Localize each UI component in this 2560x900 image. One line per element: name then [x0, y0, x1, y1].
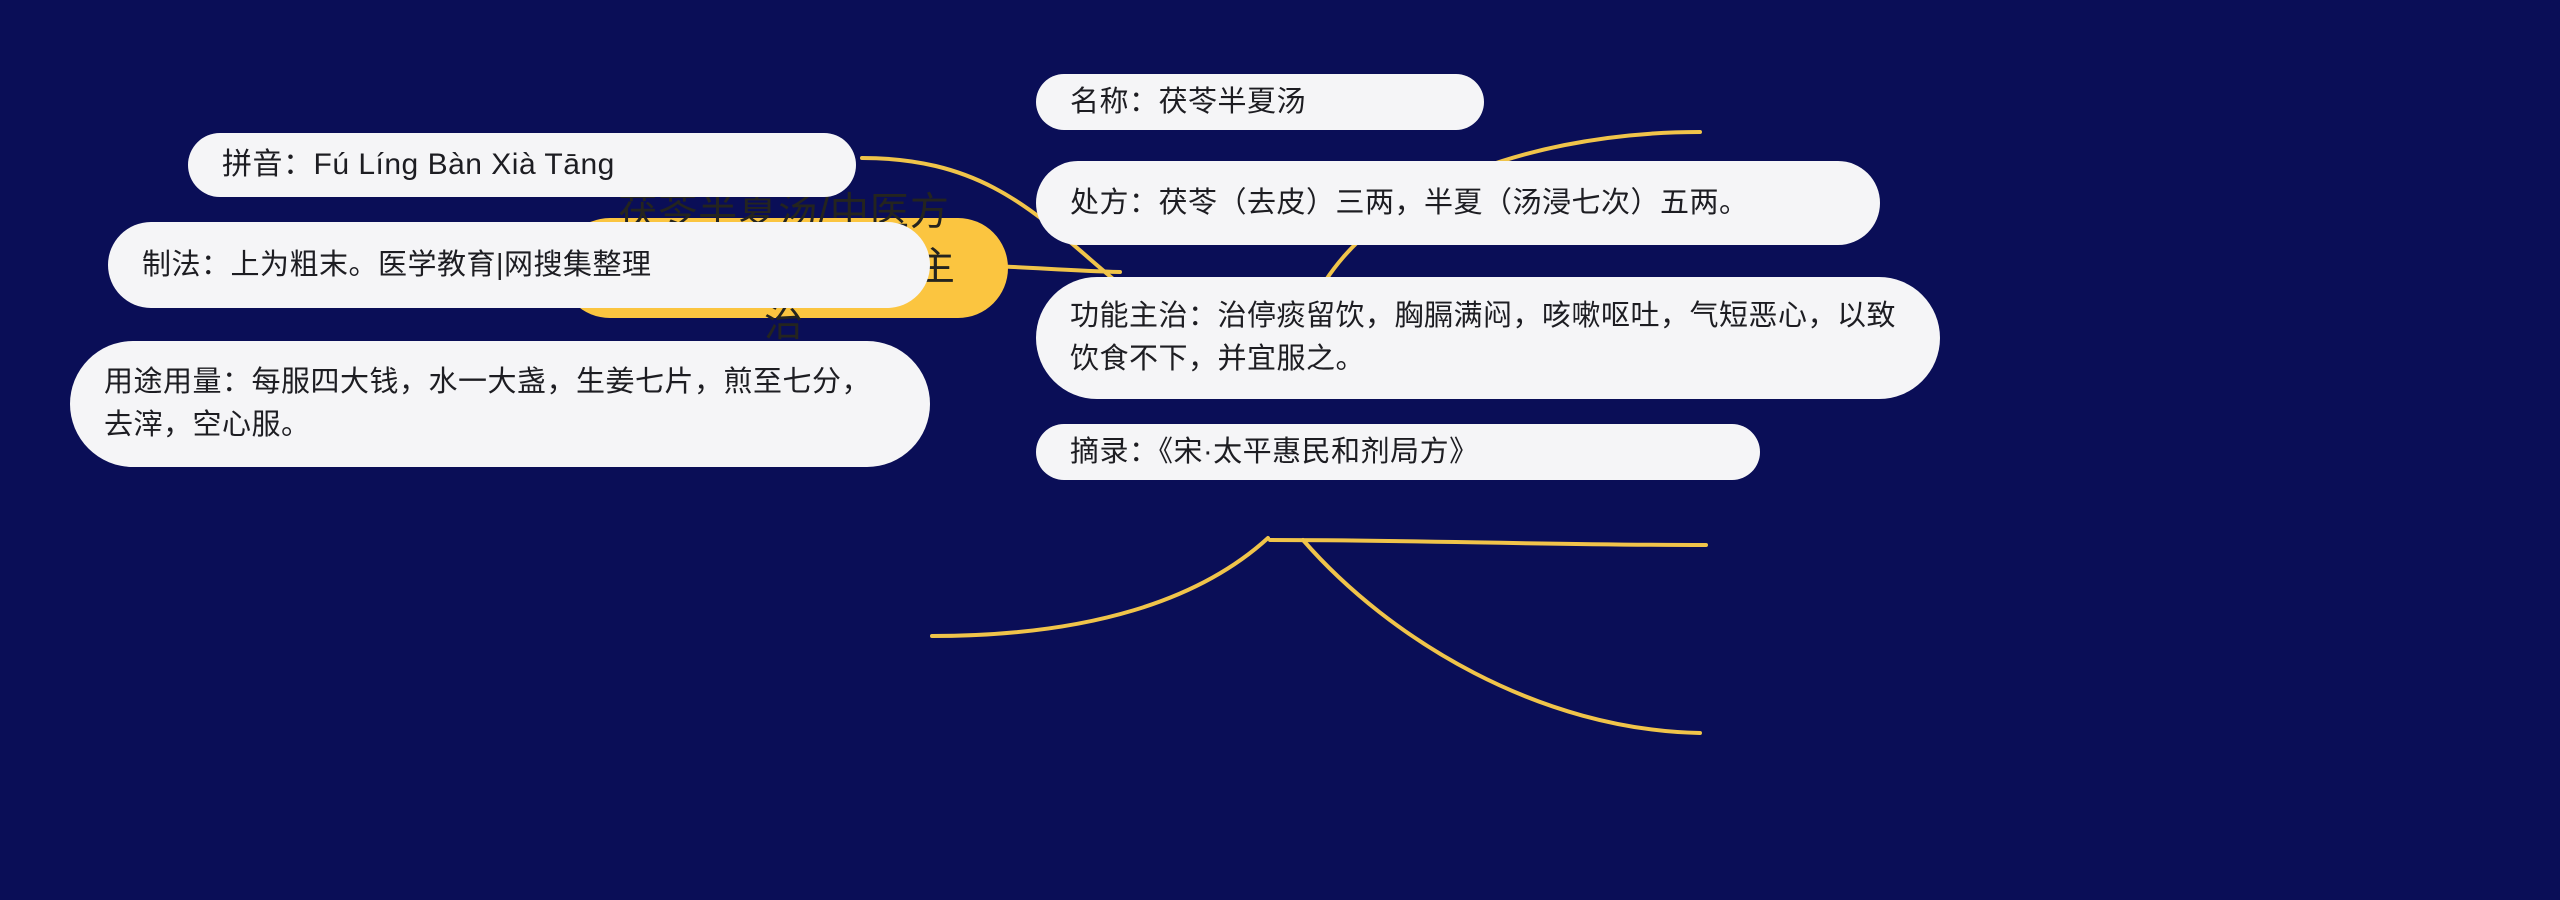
- node-label-source: 摘录：《宋·太平惠民和剂局方》: [1070, 431, 1726, 474]
- node-label-functions: 功能主治：治停痰留饮，胸膈满闷，咳嗽呕吐，气短恶心，以致饮食不下，并宜服之。: [1070, 295, 1906, 381]
- node-label-name: 名称：茯苓半夏汤: [1070, 81, 1450, 124]
- connector-source: [1303, 540, 1700, 733]
- mindmap-node-functions[interactable]: 功能主治：治停痰留饮，胸膈满闷，咳嗽呕吐，气短恶心，以致饮食不下，并宜服之。: [1036, 277, 1940, 399]
- node-label-recipe: 处方：茯苓（去皮）三两，半夏（汤浸七次）五两。: [1070, 182, 1846, 225]
- mindmap-node-usage[interactable]: 用途用量：每服四大钱，水一大盏，生姜七片，煎至七分，去滓，空心服。: [70, 341, 930, 467]
- node-label-method: 制法：上为粗末。医学教育|网搜集整理: [142, 244, 896, 287]
- mindmap-node-source[interactable]: 摘录：《宋·太平惠民和剂局方》: [1036, 424, 1760, 480]
- mindmap-node-method[interactable]: 制法：上为粗末。医学教育|网搜集整理: [108, 222, 930, 308]
- connector-functions: [1270, 540, 1706, 545]
- connector-usage: [932, 538, 1268, 636]
- mindmap-canvas: 茯苓半夏汤/中医方剂/用途用量/功能主治 拼音：Fú Líng Bàn Xià …: [0, 0, 2560, 900]
- mindmap-node-recipe[interactable]: 处方：茯苓（去皮）三两，半夏（汤浸七次）五两。: [1036, 161, 1880, 245]
- node-label-pinyin: 拼音：Fú Líng Bàn Xià Tāng: [222, 143, 822, 187]
- node-label-usage: 用途用量：每服四大钱，水一大盏，生姜七片，煎至七分，去滓，空心服。: [104, 361, 896, 447]
- mindmap-node-pinyin[interactable]: 拼音：Fú Líng Bàn Xià Tāng: [188, 133, 856, 197]
- mindmap-node-name[interactable]: 名称：茯苓半夏汤: [1036, 74, 1484, 130]
